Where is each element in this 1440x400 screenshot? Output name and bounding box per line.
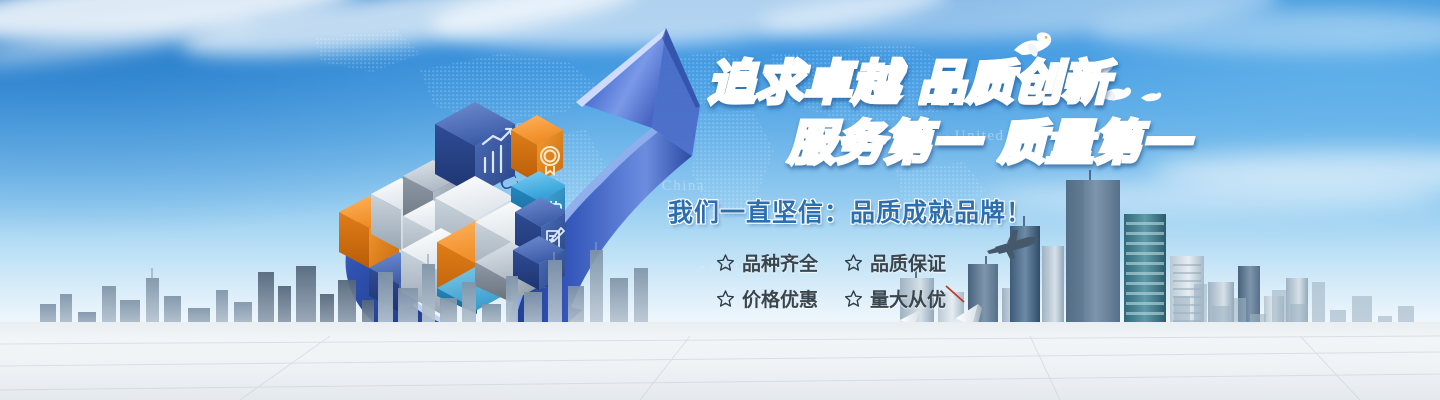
feature-item-1: 品种齐全	[716, 249, 838, 276]
banner-subtitle: 我们一直坚信：品质成就品牌！	[668, 193, 1220, 229]
headline-seg-7: 质量	[998, 116, 1094, 171]
star-icon	[844, 253, 863, 272]
feature-list: 品种齐全 品质保证 价格优惠 量大从优	[716, 249, 1220, 312]
headline-seg-2: 卓越	[804, 56, 900, 111]
feature-item-2: 品质保证	[844, 249, 966, 276]
headline-line-2: 服务第一质量第一	[788, 120, 1220, 167]
feature-item-4: 量大从优	[844, 285, 966, 312]
star-icon	[716, 253, 735, 272]
headline-seg-4: 创新	[1014, 56, 1110, 111]
headline-seg-6: 第一	[884, 116, 980, 171]
headline-block: 追求卓越品质创新 服务第一质量第一	[660, 60, 1220, 167]
headline-seg-3: 品质	[918, 56, 1014, 111]
headline-seg-5: 服务	[788, 116, 884, 171]
star-icon	[844, 289, 863, 308]
headline-line-1: 追求卓越品质创新	[708, 60, 1220, 107]
banner-copy: 追求卓越品质创新 服务第一质量第一 我们一直坚信：品质成就品牌！ 品种齐全 品质…	[660, 60, 1220, 312]
ground-tile-lines	[0, 322, 1440, 400]
feature-label: 价格优惠	[742, 285, 818, 312]
feature-label: 品种齐全	[742, 249, 818, 276]
feature-label: 量大从优	[870, 285, 946, 312]
star-icon	[716, 289, 735, 308]
feature-item-3: 价格优惠	[716, 285, 838, 312]
headline-seg-1: 追求	[708, 56, 804, 111]
promo-banner: Europe United States China Australia	[0, 0, 1440, 400]
headline-seg-8: 第一	[1094, 116, 1190, 171]
feature-label: 品质保证	[870, 249, 946, 276]
